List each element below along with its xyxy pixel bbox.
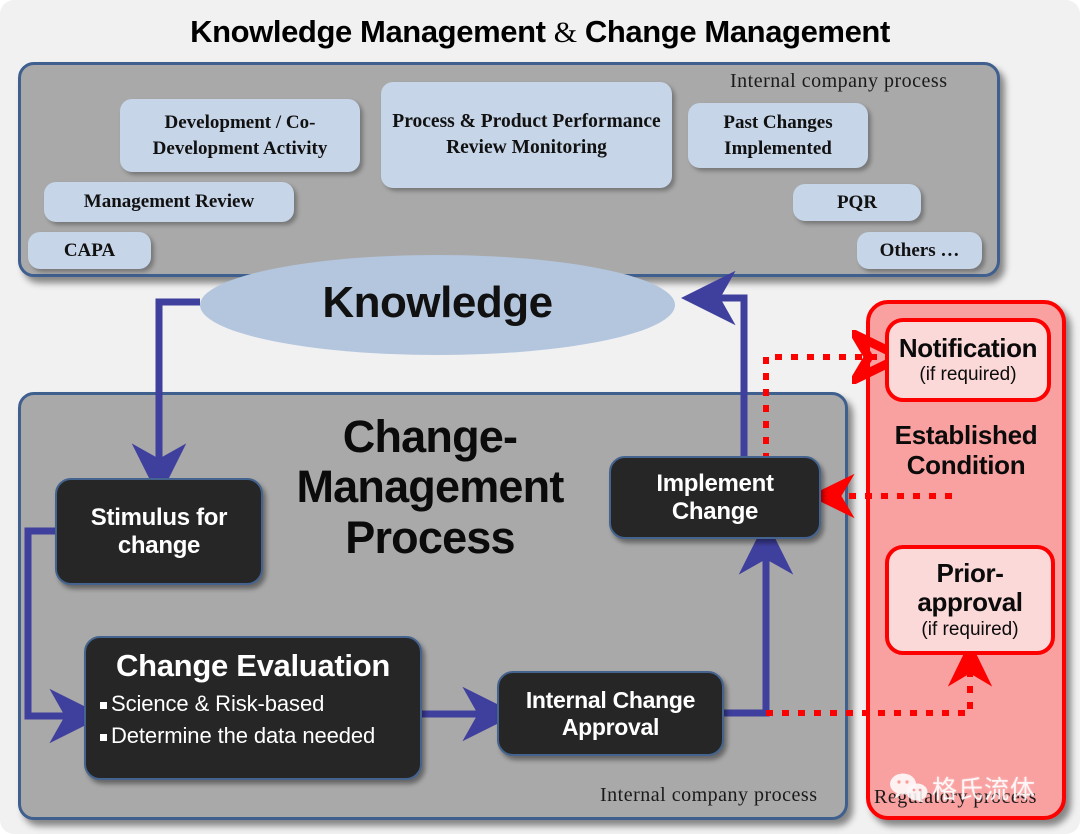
process-box-internal-change-approval[interactable]: Internal Change Approval <box>497 671 724 756</box>
knowledge-panel-caption: Internal company process <box>730 70 947 93</box>
source-box-process-product-performance-review-monitoring[interactable]: Process & Product Performance Review Mon… <box>381 82 672 188</box>
source-box-past-changes-implemented[interactable]: Past Changes Implemented <box>688 103 868 168</box>
source-box-pqr[interactable]: PQR <box>793 184 921 221</box>
process-box-stimulus-for-change[interactable]: Stimulus for change <box>55 478 263 585</box>
page-title: Knowledge Management & Change Management <box>0 14 1080 50</box>
title-part-2: Change Management <box>585 14 890 49</box>
implement-change-label: Implement Change <box>611 470 819 526</box>
wechat-icon <box>888 773 928 803</box>
bullet-square-icon <box>100 702 107 709</box>
source-box-capa[interactable]: CAPA <box>28 232 151 269</box>
title-ampersand: & <box>554 16 577 49</box>
diagram-canvas: Knowledge Management & Change Management… <box>0 0 1080 834</box>
stimulus-label: Stimulus for change <box>57 504 261 560</box>
process-box-implement-change[interactable]: Implement Change <box>609 456 821 539</box>
knowledge-ellipse[interactable]: Knowledge <box>200 255 675 355</box>
source-box-management-review[interactable]: Management Review <box>44 182 294 222</box>
change-panel-caption: Internal company process <box>600 784 817 807</box>
prior-approval-subtitle: (if required) <box>921 619 1018 641</box>
process-box-change-evaluation[interactable]: Change Evaluation Science & Risk-based D… <box>84 636 422 780</box>
established-condition-label: Established Condition <box>876 420 1056 480</box>
notification-subtitle: (if required) <box>919 364 1016 386</box>
regulatory-box-prior-approval[interactable]: Prior-approval (if required) <box>885 545 1055 655</box>
change-evaluation-bullets: Science & Risk-based Determine the data … <box>100 688 406 751</box>
change-evaluation-title: Change Evaluation <box>100 648 406 684</box>
notification-title: Notification <box>899 334 1037 363</box>
change-management-process-label: Change-Management Process <box>260 412 600 563</box>
knowledge-ellipse-label: Knowledge <box>322 278 552 328</box>
list-item: Determine the data needed <box>100 720 406 752</box>
watermark: 格氏流体 <box>888 770 1036 806</box>
list-item: Science & Risk-based <box>100 688 406 720</box>
regulatory-box-notification[interactable]: Notification (if required) <box>885 318 1051 402</box>
source-box-others[interactable]: Others … <box>857 232 982 269</box>
watermark-text: 格氏流体 <box>932 770 1036 806</box>
source-box-development-co-development-activity[interactable]: Development / Co-Development Activity <box>120 99 360 172</box>
bullet-square-icon <box>100 734 107 741</box>
title-part-1: Knowledge Management <box>190 14 545 49</box>
internal-change-approval-label: Internal Change Approval <box>499 687 722 740</box>
prior-approval-title: Prior-approval <box>889 559 1051 616</box>
